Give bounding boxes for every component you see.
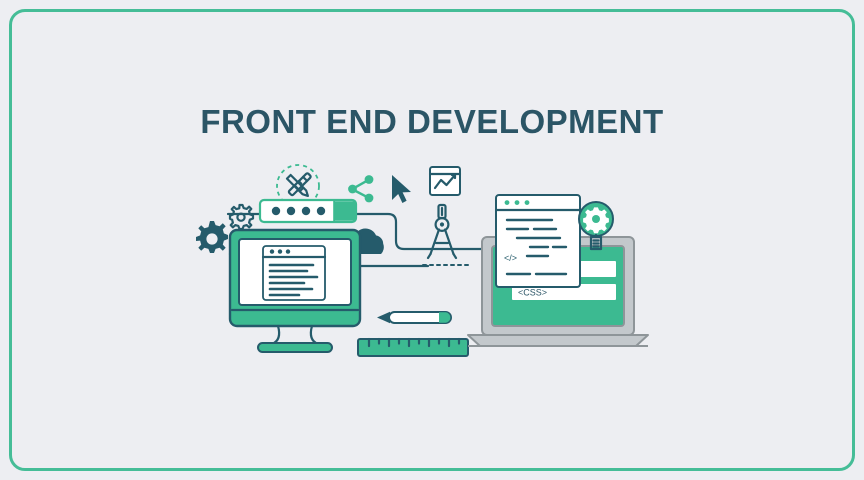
desktop-monitor [230, 230, 360, 352]
code-window-glyph: </> [504, 253, 517, 263]
code-window: </> [496, 195, 580, 287]
progress-bar[interactable] [260, 200, 357, 222]
ruler-icon [358, 339, 468, 356]
pencil-icon [377, 312, 451, 323]
laptop-field-css-label: <CSS> [518, 288, 547, 298]
gear-large-icon [196, 221, 228, 253]
cursor-icon [392, 175, 411, 203]
screenshot-canvas: FRONT END DEVELOPMENT .tl{stroke:#255b6b… [0, 0, 864, 480]
illustration: .tl{stroke:#255b6b;fill:none;stroke-widt… [170, 155, 670, 370]
compass-icon [423, 205, 470, 265]
page-title: FRONT END DEVELOPMENT [0, 103, 864, 141]
share-icon [348, 175, 373, 202]
chart-window-icon [430, 167, 460, 195]
gear-small-icon [230, 205, 253, 229]
monitor-browser-window [263, 246, 325, 300]
